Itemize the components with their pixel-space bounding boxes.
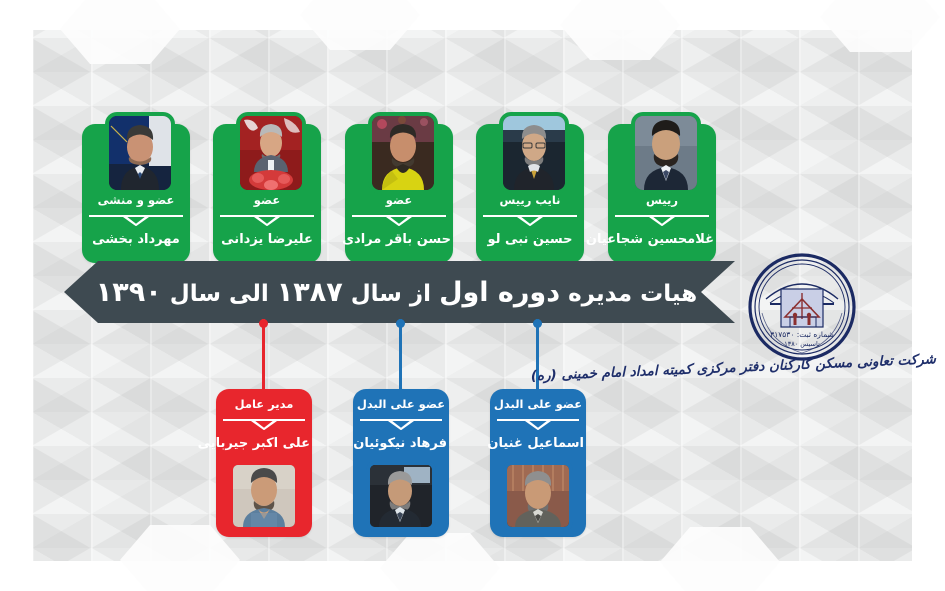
connector-dot	[396, 319, 405, 328]
connector-line	[399, 319, 402, 391]
member-photo-1	[105, 112, 175, 194]
portrait-image	[370, 465, 432, 527]
member-role-5: رییس	[608, 194, 716, 214]
lower-name-1: علی اکبر جیربایی	[216, 428, 312, 461]
portrait-image	[507, 465, 569, 527]
card-divider	[615, 214, 709, 224]
member-role-1: عضو و منشی	[82, 194, 190, 214]
member-card-3[interactable]: عضو حسن باقر مرادی	[345, 124, 453, 263]
lower-photo-1	[229, 461, 299, 531]
card-divider	[360, 418, 442, 428]
lower-card-2[interactable]: عضو علی البدل فرهاد نیکوئیان	[353, 389, 449, 537]
banner-mid2: الی سال	[170, 281, 269, 307]
member-name-3: حسن باقر مرادی	[345, 224, 453, 263]
card-divider	[497, 418, 579, 428]
member-role-4: نایب رییس	[476, 194, 584, 214]
infographic-canvas: عضو و منشی مهرداد بخشی	[0, 0, 945, 591]
member-photo-5	[631, 112, 701, 194]
card-divider	[223, 418, 305, 428]
divider-bar	[483, 215, 577, 217]
lower-card-3[interactable]: عضو علی البدل اسماعیل غنیان	[490, 389, 586, 537]
connector-dot	[533, 319, 542, 328]
member-card-2[interactable]: عضو علیرضا یزدانی	[213, 124, 321, 263]
banner-year-from: ۱۳۸۷	[277, 277, 343, 308]
member-photo-2	[236, 112, 306, 194]
portrait-image	[635, 116, 697, 190]
member-role-3: عضو	[345, 194, 453, 214]
member-card-5[interactable]: رییس غلامحسین شجاعیان	[608, 124, 716, 263]
seal-registration-number: شماره ثبت: ۳۱۷۵۳۰	[770, 330, 834, 339]
lower-role-2: عضو علی البدل	[353, 389, 449, 418]
portrait-image	[372, 116, 434, 190]
member-photo-3	[368, 112, 438, 194]
lower-card-1[interactable]: مدیر عامل علی اکبر جیربایی	[216, 389, 312, 537]
card-divider	[352, 214, 446, 224]
divider-bar	[497, 419, 579, 421]
card-divider	[483, 214, 577, 224]
divider-bar	[223, 419, 305, 421]
lower-role-3: عضو علی البدل	[490, 389, 586, 418]
divider-bar	[89, 215, 183, 217]
connector-lower-1	[262, 319, 265, 391]
card-divider	[220, 214, 314, 224]
member-photo-4	[499, 112, 569, 194]
member-card-1[interactable]: عضو و منشی مهرداد بخشی	[82, 124, 190, 263]
connector-line	[262, 319, 265, 391]
lower-photo-2	[366, 461, 436, 531]
connector-lower-2	[399, 319, 402, 391]
lower-role-1: مدیر عامل	[216, 389, 312, 418]
member-name-5: غلامحسین شجاعیان	[608, 224, 716, 263]
portrait-image	[109, 116, 171, 190]
connector-dot	[259, 319, 268, 328]
cooperative-seal-logo: شماره ثبت: ۳۱۷۵۳۰ تاسیس ۱۳۸۰	[748, 253, 856, 361]
banner-title: هیات مدیره دوره اول از سال ۱۳۸۷ الی سال …	[96, 277, 703, 308]
seal-founding-year: تاسیس ۱۳۸۰	[784, 340, 820, 348]
member-card-4[interactable]: نایب رییس حسین نبی لو	[476, 124, 584, 263]
portrait-image	[233, 465, 295, 527]
member-name-1: مهرداد بخشی	[82, 224, 190, 263]
banner-emphasis: دوره اول	[439, 277, 560, 308]
portrait-image	[240, 116, 302, 190]
member-name-4: حسین نبی لو	[476, 224, 584, 263]
divider-bar	[220, 215, 314, 217]
banner-mid: از سال	[351, 281, 431, 307]
lower-photo-3	[503, 461, 573, 531]
banner-year-to: ۱۳۹۰	[96, 277, 162, 308]
divider-bar	[352, 215, 446, 217]
lower-name-3: اسماعیل غنیان	[490, 428, 586, 461]
portrait-image	[503, 116, 565, 190]
lower-name-2: فرهاد نیکوئیان	[353, 428, 449, 461]
seal-icon: شماره ثبت: ۳۱۷۵۳۰ تاسیس ۱۳۸۰	[748, 253, 856, 361]
divider-bar	[615, 215, 709, 217]
divider-bar	[360, 419, 442, 421]
banner-prefix: هیات مدیره	[568, 281, 697, 307]
card-divider	[89, 214, 183, 224]
period-banner: هیات مدیره دوره اول از سال ۱۳۸۷ الی سال …	[64, 261, 735, 323]
member-name-2: علیرضا یزدانی	[213, 224, 321, 263]
member-role-2: عضو	[213, 194, 321, 214]
